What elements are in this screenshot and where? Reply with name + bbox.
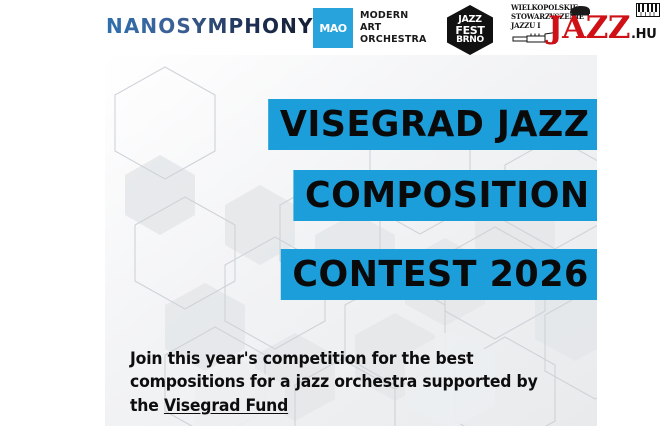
mao-monogram-icon: MAO xyxy=(313,8,353,48)
title-row-2: COMPOSITION xyxy=(105,170,597,221)
poster-banner: VISEGRAD JAZZ COMPOSITION CONTEST 2026 J… xyxy=(105,55,597,426)
mao-wordmark: Modern Art Orchestra xyxy=(360,10,427,46)
piano-keys-icon xyxy=(636,3,660,17)
jazzhu-logo[interactable]: JAZZ .HU xyxy=(548,14,656,43)
title-row-3: CONTEST 2026 xyxy=(105,249,597,300)
jazzhu-wordmark: JAZZ xyxy=(548,14,630,43)
visegrad-fund-link[interactable]: Visegrad Fund xyxy=(164,396,288,416)
mao-line-2: Art xyxy=(360,22,427,34)
jazzhu-tld: .HU xyxy=(631,27,656,42)
poster-page: NANOSYMPHONY MAO Modern Art Orchestra JA… xyxy=(0,0,670,426)
title-line-3: CONTEST 2026 xyxy=(281,249,597,300)
title-line-1: VISEGRAD JAZZ xyxy=(268,99,597,150)
poster-title-stack: VISEGRAD JAZZ COMPOSITION CONTEST 2026 xyxy=(105,99,597,300)
poster-body-copy: Join this year's competition for the bes… xyxy=(130,348,544,418)
mao-line-1: Modern xyxy=(360,10,427,22)
mao-line-3: Orchestra xyxy=(360,34,427,46)
partner-logo-strip: NANOSYMPHONY MAO Modern Art Orchestra JA… xyxy=(0,0,670,55)
jazz-fest-brno-logo[interactable]: JAZZ FEST BRNO xyxy=(447,5,493,55)
title-row-1: VISEGRAD JAZZ xyxy=(105,99,597,150)
nanosymphony-logo[interactable]: NANOSYMPHONY xyxy=(106,16,314,36)
title-line-2: COMPOSITION xyxy=(293,170,597,221)
brno-line-3: BRNO xyxy=(456,36,484,45)
modern-art-orchestra-logo[interactable]: MAO Modern Art Orchestra xyxy=(313,8,427,48)
